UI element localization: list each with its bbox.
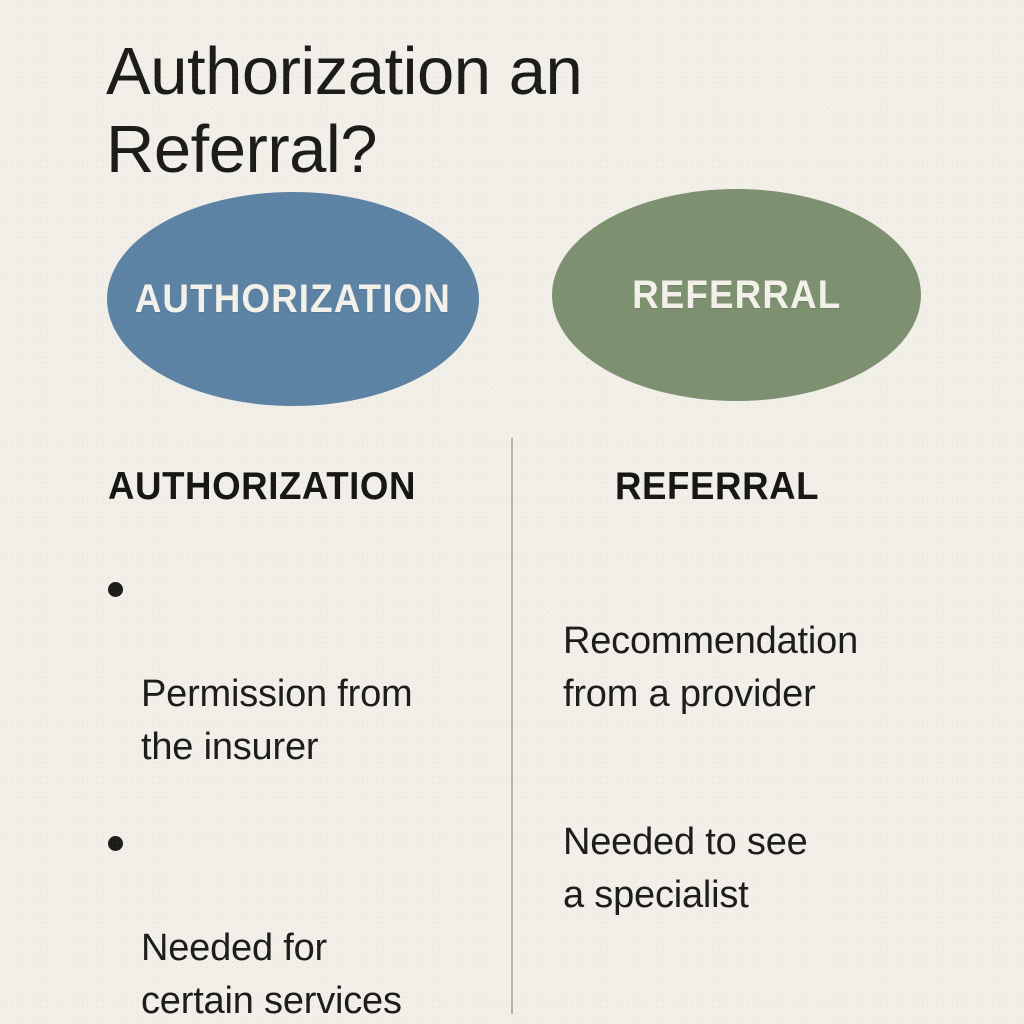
list-item-text: Needed for certain services <box>141 927 402 1022</box>
column-authorization-list: Permission from the insurer Needed for c… <box>108 562 498 1024</box>
list-item: Ensures proper treatment <box>563 964 963 1024</box>
list-item-text: Permission from the insurer <box>141 673 413 768</box>
badge-authorization: AUTHORIZATION <box>107 192 479 406</box>
column-referral-heading: REFERRAL <box>615 464 942 510</box>
list-item: Permission from the insurer <box>108 562 498 774</box>
badge-authorization-label: AUTHORIZATION <box>135 277 451 322</box>
column-authorization-heading: AUTHORIZATION <box>108 464 475 510</box>
badge-referral-label: REFERRAL <box>632 273 841 318</box>
list-item: Needed for certain services <box>108 816 498 1024</box>
list-item: Needed to see a specialist <box>563 763 963 922</box>
infographic-canvas: Authorization an Referral? AUTHORIZATION… <box>0 0 1024 1024</box>
list-item-text: Recommendation from a provider <box>563 620 858 715</box>
bullet-dot-icon <box>108 836 123 851</box>
page-title: Authorization an Referral? <box>106 33 926 189</box>
column-authorization: AUTHORIZATION Permission from the insure… <box>108 464 498 1024</box>
badge-referral: REFERRAL <box>552 189 921 401</box>
column-divider <box>511 438 513 1014</box>
list-item-text: Needed to see a specialist <box>563 821 808 916</box>
bullet-dot-icon <box>108 582 123 597</box>
column-referral: REFERRAL Recommendation from a provider … <box>563 464 963 1024</box>
column-referral-list: Recommendation from a provider Needed to… <box>563 562 963 1024</box>
list-item: Recommendation from a provider <box>563 562 963 721</box>
